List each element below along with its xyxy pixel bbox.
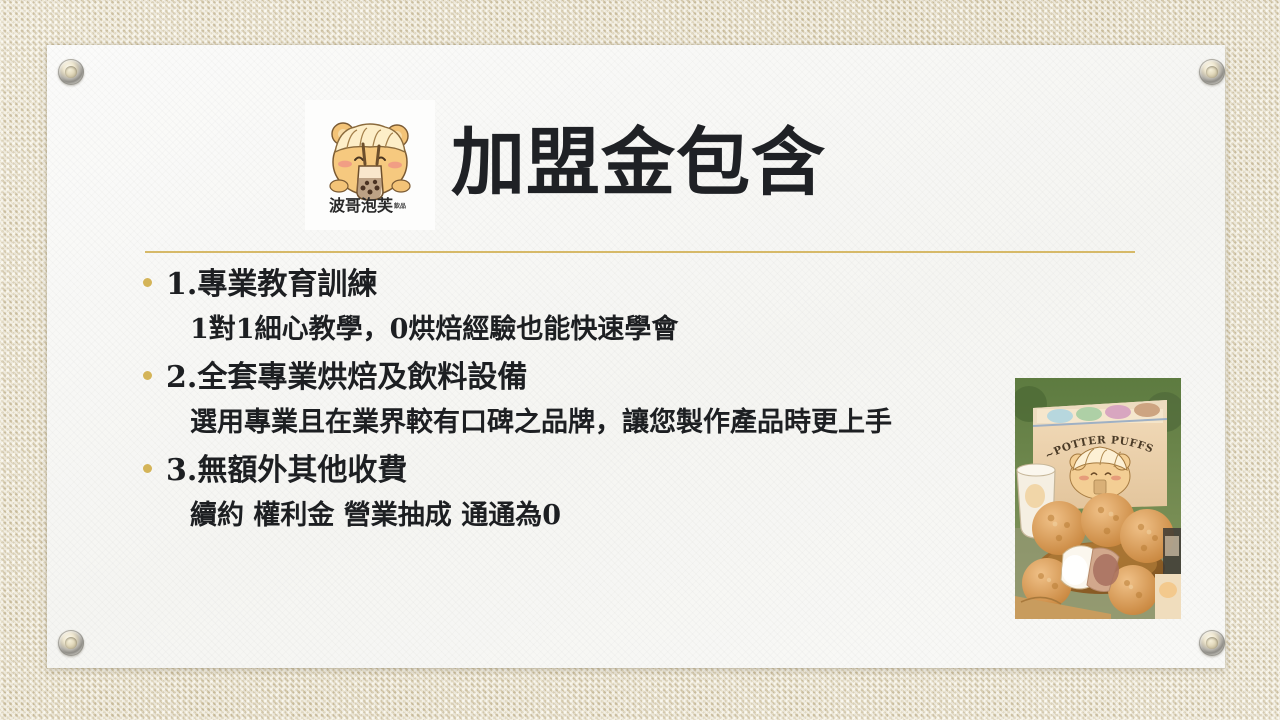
bullet-dot-icon xyxy=(143,371,152,380)
logo-brand-text: 波哥泡芙 xyxy=(329,196,394,215)
list-item: 1.專業教育訓練 1對1細心教學，0烘焙經驗也能快速學會 xyxy=(143,263,1003,352)
grommet-bottom-right-icon xyxy=(1199,630,1225,656)
slide-canvas: 波哥泡芙 飲品 加盟金包含 1.專業教育訓練 1對1細心教學，0烘焙經驗也能快速… xyxy=(0,0,1280,720)
title-divider xyxy=(145,251,1135,253)
bullet-heading-row: 3.無額外其他收費 xyxy=(143,449,1003,493)
list-item: 3.無額外其他收費 續約 權利金 營業抽成 通通為0 xyxy=(143,449,1003,538)
bullet-subtext: 續約 權利金 營業抽成 通通為0 xyxy=(190,493,1003,538)
cream-puffs-product-photo: ~POTTER PUFFS & DRINKS~ xyxy=(1015,378,1181,619)
bullet-subtext: 1對1細心教學，0烘焙經驗也能快速學會 xyxy=(190,307,1003,352)
bullet-dot-icon xyxy=(143,278,152,287)
grommet-top-right-icon xyxy=(1199,59,1225,85)
bullet-title: 3.無額外其他收費 xyxy=(166,449,407,493)
logo-brand-sub-text: 飲品 xyxy=(393,202,406,210)
bullet-dot-icon xyxy=(143,464,152,473)
page-title: 加盟金包含 xyxy=(451,126,826,200)
bullet-title: 2.全套專業烘焙及飲料設備 xyxy=(166,356,527,400)
bear-bubble-tea-logo-icon: 波哥泡芙 飲品 xyxy=(305,100,435,230)
grommet-top-left-icon xyxy=(58,59,84,85)
title-row: 波哥泡芙 飲品 加盟金包含 xyxy=(305,100,826,230)
bullet-list: 1.專業教育訓練 1對1細心教學，0烘焙經驗也能快速學會 2.全套專業烘焙及飲料… xyxy=(143,263,1003,542)
bullet-subtext: 選用專業且在業界較有口碑之品牌，讓您製作產品時更上手 xyxy=(190,400,1003,445)
bullet-heading-row: 1.專業教育訓練 xyxy=(143,263,1003,307)
bullet-title: 1.專業教育訓練 xyxy=(166,263,377,307)
list-item: 2.全套專業烘焙及飲料設備 選用專業且在業界較有口碑之品牌，讓您製作產品時更上手 xyxy=(143,356,1003,445)
grommet-bottom-left-icon xyxy=(58,630,84,656)
bullet-heading-row: 2.全套專業烘焙及飲料設備 xyxy=(143,356,1003,400)
